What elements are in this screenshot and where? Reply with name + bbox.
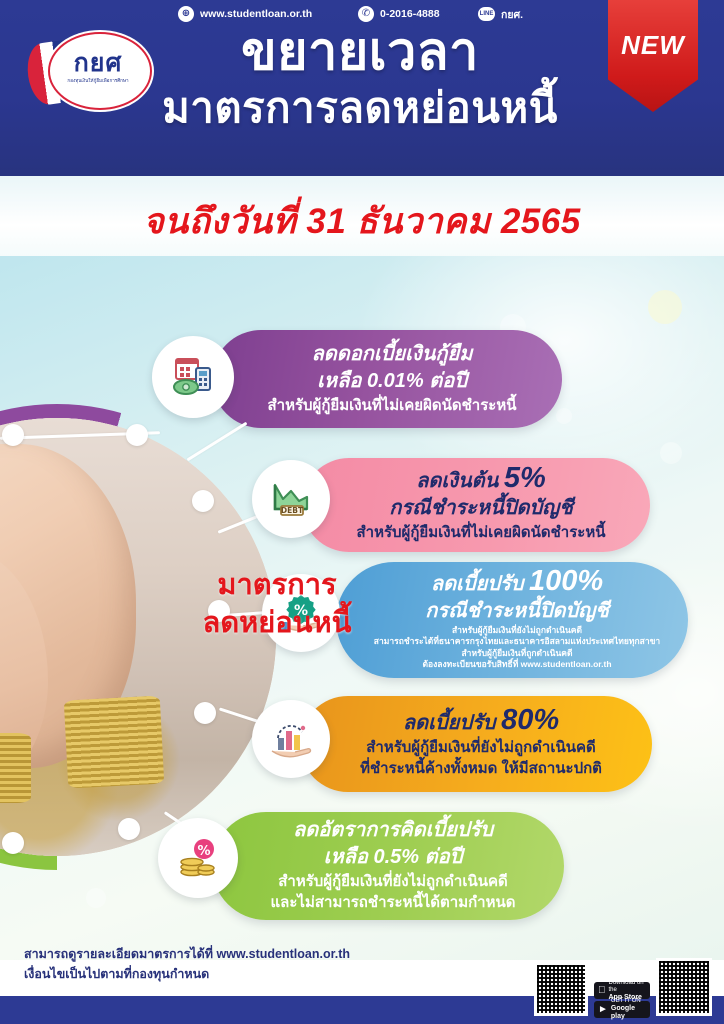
footer-website[interactable]: ⊕ www.studentloan.or.th bbox=[178, 0, 312, 28]
new-badge-label: NEW bbox=[608, 30, 698, 61]
measure-pill-5: ลดอัตราการคิดเบี้ยปรับ เหลือ 0.5% ต่อปี … bbox=[212, 812, 564, 920]
measure-1-prefix: เหลือ bbox=[317, 370, 361, 392]
phone-icon: ✆ bbox=[358, 6, 374, 22]
measure-3-line-2: กรณีชำระหนี้ปิดบัญชี bbox=[372, 598, 662, 625]
app-store-small: Download on the bbox=[609, 980, 651, 994]
play-icon: ► bbox=[598, 1005, 608, 1015]
connector-dot bbox=[192, 490, 214, 512]
connector-dot bbox=[2, 832, 24, 854]
debt-chart-icon: DEBT bbox=[252, 460, 330, 538]
measure-4-line-3b: ที่ชำระหนี้ค้างทั้งหมด ให้มีสถานะปกติ bbox=[336, 758, 626, 779]
measure-5-line-2: เหลือ 0.5% ต่อปี bbox=[248, 844, 538, 871]
infographic-poster: กยศ กองทุนเงินให้กู้ยืมเพื่อการศึกษา ขยา… bbox=[0, 0, 724, 1024]
globe-icon: ⊕ bbox=[178, 6, 194, 22]
title-line-1: ขยายเวลา bbox=[120, 22, 600, 82]
title-line-2: มาตรการลดหย่อนหนี้ bbox=[120, 82, 600, 134]
new-ribbon-badge: NEW bbox=[608, 0, 698, 112]
deadline-text: จนถึงวันที่ 31 ธันวาคม 2565 bbox=[0, 194, 724, 249]
measure-2-prefix: ลดเงินต้น bbox=[416, 470, 498, 492]
measure-3-value: 100% bbox=[529, 565, 603, 597]
footer-notes: สามารถดูรายละเอียดมาตรการได้ที่ www.stud… bbox=[24, 944, 544, 984]
header-titles: ขยายเวลา มาตรการลดหย่อนหนี้ bbox=[120, 22, 600, 134]
qr-pattern bbox=[537, 965, 585, 1013]
measure-3-line-1: ลดเบี้ยปรับ 100% bbox=[372, 568, 662, 598]
measure-5-prefix: เหลือ bbox=[324, 846, 368, 868]
footer-line[interactable]: LINE กยศ. bbox=[478, 0, 523, 28]
measure-4-prefix: ลดเบี้ยปรับ bbox=[403, 712, 496, 734]
hand-bar-chart-icon bbox=[252, 700, 330, 778]
apple-icon:  bbox=[598, 986, 606, 996]
qr-code-line bbox=[656, 958, 712, 1016]
qr-code-website bbox=[534, 962, 588, 1016]
google-play-small: GET IT ON bbox=[611, 998, 650, 1005]
footer-phone-label: 0-2016-4888 bbox=[380, 8, 440, 20]
measure-3-fine-3: สำหรับผู้กู้ยืมเงินที่ถูกดำเนินคดี bbox=[372, 648, 662, 660]
line-icon: LINE bbox=[478, 7, 495, 21]
coins-percent-icon: % bbox=[158, 818, 238, 898]
measure-4-line-1: ลดเบี้ยปรับ 80% bbox=[336, 707, 626, 737]
measure-2-line-1: ลดเงินต้น 5% bbox=[338, 465, 624, 495]
measure-pill-4: ลดเบี้ยปรับ 80% สำหรับผู้กู้ยืมเงินที่ยั… bbox=[300, 696, 652, 792]
center-label-line-2: ลดหย่อนหนี้ bbox=[172, 604, 382, 642]
measure-2-line-2: กรณีชำระหนี้ปิดบัญชี bbox=[338, 495, 624, 522]
connector-dot bbox=[194, 702, 216, 724]
center-label-line-1: มาตรการ bbox=[172, 566, 382, 604]
measure-3-fine-4: ต้องลงทะเบียนขอรับสิทธิ์ที่ www.studentl… bbox=[372, 659, 662, 671]
measure-pill-1: ลดดอกเบี้ยเงินกู้ยืม เหลือ 0.01% ต่อปี ส… bbox=[212, 330, 562, 428]
google-play-label: Google play bbox=[611, 1005, 650, 1021]
decor-bubble bbox=[86, 888, 106, 908]
measure-5-value: 0.5% bbox=[374, 846, 420, 868]
calendar-calculator-money-icon bbox=[152, 336, 234, 418]
measure-5-suffix: ต่อปี bbox=[425, 846, 463, 868]
footer-phone[interactable]: ✆ 0-2016-4888 bbox=[358, 0, 440, 28]
measure-4-line-3a: สำหรับผู้กู้ยืมเงินที่ยังไม่ถูกดำเนินคดี bbox=[336, 737, 626, 758]
measure-1-line-3: สำหรับผู้กู้ยืมเงินที่ไม่เคยผิดนัดชำระหน… bbox=[248, 395, 536, 416]
measure-2-value: 5% bbox=[504, 462, 546, 494]
decor-bubble bbox=[648, 290, 682, 324]
coin-stack bbox=[0, 733, 31, 803]
measure-3-fine-2: สามารถชำระได้ที่ธนาคารกรุงไทยและธนาคารอิ… bbox=[372, 636, 662, 648]
footer-line-label: กยศ. bbox=[501, 6, 523, 23]
measure-2-line-3: สำหรับผู้กู้ยืมเงินที่ไม่เคยผิดนัดชำระหน… bbox=[338, 522, 624, 543]
measure-pill-2: ลดเงินต้น 5% กรณีชำระหนี้ปิดบัญชี สำหรับ… bbox=[302, 458, 650, 552]
measure-3-fine-1: สำหรับผู้กู้ยืมเงินที่ยังไม่ถูกดำเนินคดี bbox=[372, 625, 662, 637]
measure-1-line-1: ลดดอกเบี้ยเงินกู้ยืม bbox=[248, 341, 536, 368]
connector-dot bbox=[2, 424, 24, 446]
measure-5-line-3a: สำหรับผู้กู้ยืมเงินที่ยังไม่ถูกดำเนินคดี bbox=[248, 871, 538, 892]
coin-stack bbox=[64, 696, 165, 789]
measure-1-value: 0.01% bbox=[367, 370, 424, 392]
measure-pill-3: ลดเบี้ยปรับ 100% กรณีชำระหนี้ปิดบัญชี สำ… bbox=[336, 562, 688, 678]
decor-bubble bbox=[660, 442, 682, 464]
measure-5-line-1: ลดอัตราการคิดเบี้ยปรับ bbox=[248, 817, 538, 844]
measure-4-value: 80% bbox=[501, 704, 559, 736]
footer-note-1: สามารถดูรายละเอียดมาตรการได้ที่ www.stud… bbox=[24, 944, 544, 964]
decor-bubble bbox=[556, 408, 572, 424]
measure-5-line-3b: และไม่สามารถชำระหนี้ได้ตามกำหนด bbox=[248, 892, 538, 913]
google-play-badge[interactable]: ► GET IT ON Google play bbox=[594, 1001, 650, 1018]
footer-note-2: เงื่อนไขเป็นไปตามที่กองทุนกำหนด bbox=[24, 964, 544, 984]
measure-1-suffix: ต่อปี bbox=[429, 370, 467, 392]
app-store-badge[interactable]:  Download on the App Store bbox=[594, 982, 650, 999]
connector-dot bbox=[126, 424, 148, 446]
qr-pattern bbox=[659, 961, 709, 1013]
deadline-band: จนถึงวันที่ 31 ธันวาคม 2565 bbox=[0, 176, 724, 258]
svg-text:DEBT: DEBT bbox=[281, 506, 304, 515]
footer-website-label: www.studentloan.or.th bbox=[200, 8, 312, 20]
svg-text:%: % bbox=[197, 844, 210, 859]
measure-1-line-2: เหลือ 0.01% ต่อปี bbox=[248, 368, 536, 395]
connector-dot bbox=[118, 818, 140, 840]
measure-3-prefix: ลดเบี้ยปรับ bbox=[431, 573, 524, 595]
